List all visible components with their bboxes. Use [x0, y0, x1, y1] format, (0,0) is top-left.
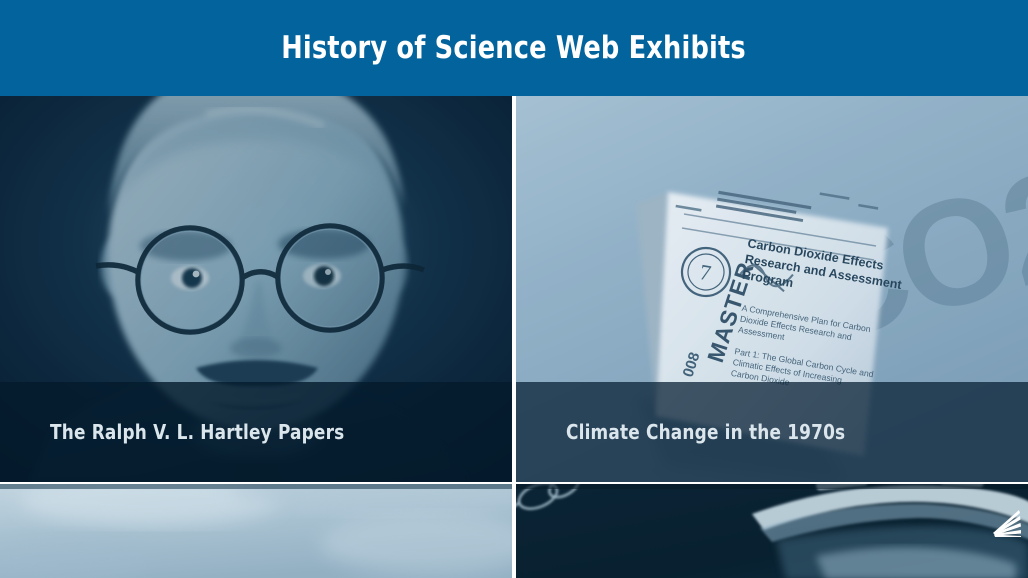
exhibit-grid: The Ralph V. L. Hartley Papers: [0, 96, 1028, 578]
exhibit-tile-hartley[interactable]: The Ralph V. L. Hartley Papers: [0, 96, 512, 482]
apparatus-photo: [516, 484, 1028, 578]
cloud-photo: [0, 484, 512, 578]
tile-caption-bar: The Ralph V. L. Hartley Papers: [0, 382, 512, 482]
exhibits-page: History of Science Web Exhibits: [0, 0, 1028, 578]
fan-mark-logo[interactable]: [989, 506, 1023, 538]
exhibit-tile-clouds[interactable]: [0, 484, 512, 578]
tile-caption-bar: Climate Change in the 1970s: [516, 382, 1028, 482]
exhibit-tile-apparatus[interactable]: [516, 484, 1028, 578]
site-header: History of Science Web Exhibits: [0, 0, 1028, 96]
exhibit-tile-climate[interactable]: CO2: [516, 96, 1028, 482]
exhibit-title-hartley: The Ralph V. L. Hartley Papers: [50, 420, 344, 444]
exhibit-title-climate: Climate Change in the 1970s: [566, 420, 845, 444]
page-title: History of Science Web Exhibits: [282, 30, 747, 66]
